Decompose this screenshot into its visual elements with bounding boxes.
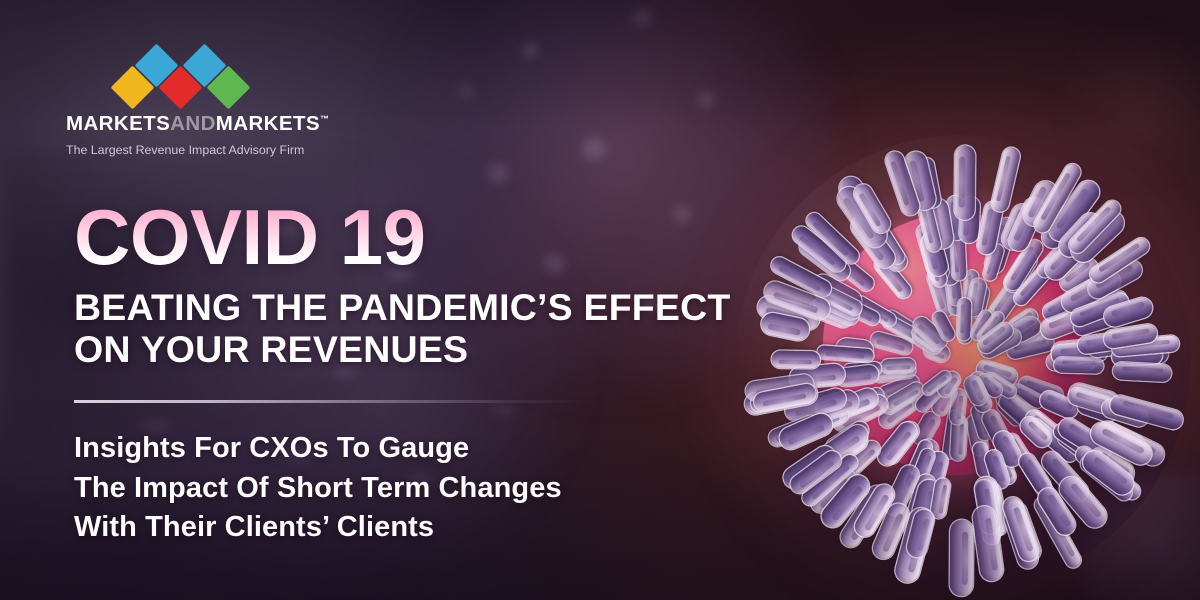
virus-illustration: [735, 135, 1190, 590]
hero-body: Insights For CXOs To Gauge The Impact Of…: [74, 429, 734, 547]
logo-wordmark-and: AND: [170, 112, 216, 135]
logo-tagline: The Largest Revenue Impact Advisory Firm: [66, 144, 296, 156]
page-title: COVID 19: [74, 200, 734, 274]
logo-wordmark: MARKETSANDMARKETS™: [66, 114, 296, 135]
divider: [74, 400, 586, 403]
virus-spikes: [735, 135, 1190, 590]
hero-copy: COVID 19 BEATING THE PANDEMIC’S EFFECT O…: [74, 200, 734, 547]
company-logo[interactable]: MARKETSANDMARKETS™ The Largest Revenue I…: [66, 50, 296, 156]
covid-banner: MARKETSANDMARKETS™ The Largest Revenue I…: [0, 0, 1200, 600]
logo-wordmark-part2: MARKETS: [216, 112, 320, 135]
hero-body-line-3: With Their Clients’ Clients: [74, 508, 734, 547]
hero-subtitle: BEATING THE PANDEMIC’S EFFECT ON YOUR RE…: [74, 286, 734, 370]
hero-body-line-2: The Impact Of Short Term Changes: [74, 469, 734, 508]
hero-subtitle-line-1: BEATING THE PANDEMIC’S: [74, 286, 573, 328]
hero-body-line-1: Insights For CXOs To Gauge: [74, 429, 734, 468]
trademark-icon: ™: [320, 114, 329, 124]
logo-diamonds: [117, 50, 245, 104]
logo-wordmark-part1: MARKETS: [66, 112, 170, 135]
